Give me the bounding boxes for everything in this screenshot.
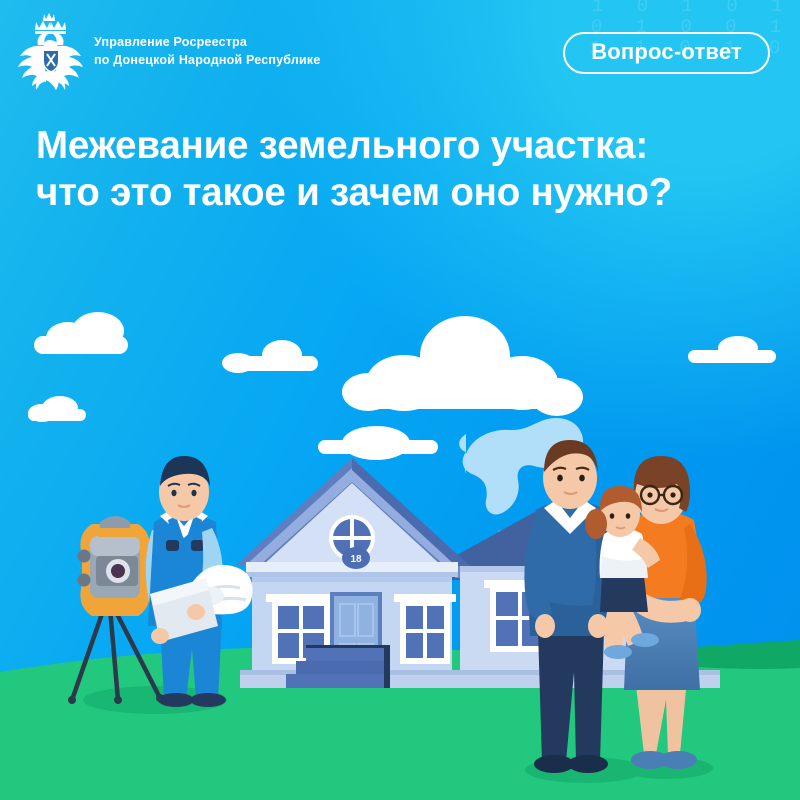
cloud-left-top: [34, 312, 128, 354]
org-name-line1: Управление Росреестра: [94, 34, 321, 52]
page-title-line1: Межевание земельного участка:: [36, 123, 756, 170]
child-shoe-right: [631, 633, 659, 647]
door-number-text: 18: [350, 554, 362, 565]
cloud-mid-left: [222, 340, 318, 373]
page-title-line2: что это такое и зачем оно нужно?: [36, 170, 756, 217]
clouds-group: [28, 312, 776, 460]
cloud-behind-roof: [318, 426, 438, 460]
poster-root: 1 0 1 0 1 0 1 0 1 0 0 1 1 0 1 1 0 1 0 0 …: [0, 0, 800, 800]
house-window-center-right: [394, 594, 456, 664]
question-answer-badge[interactable]: Вопрос-ответ: [563, 32, 770, 74]
brand-block: Управление Росреестра по Донецкой Народн…: [14, 12, 321, 92]
scene-svg: 18: [0, 0, 800, 800]
child-shoe-left: [604, 645, 632, 659]
org-name-block: Управление Росреестра по Донецкой Народн…: [94, 34, 321, 70]
cloud-left-lower: [28, 396, 86, 422]
cloud-large-center: [342, 316, 583, 416]
cloud-right: [688, 336, 776, 363]
illustration-scene: 18: [0, 0, 800, 800]
rosreestr-double-headed-eagle-emblem: [14, 12, 84, 92]
page-title: Межевание земельного участка: что это та…: [36, 123, 756, 217]
child-ponytail: [585, 509, 607, 539]
org-name-line2: по Донецкой Народной Республике: [94, 52, 321, 70]
total-station-theodolite: [78, 516, 150, 616]
